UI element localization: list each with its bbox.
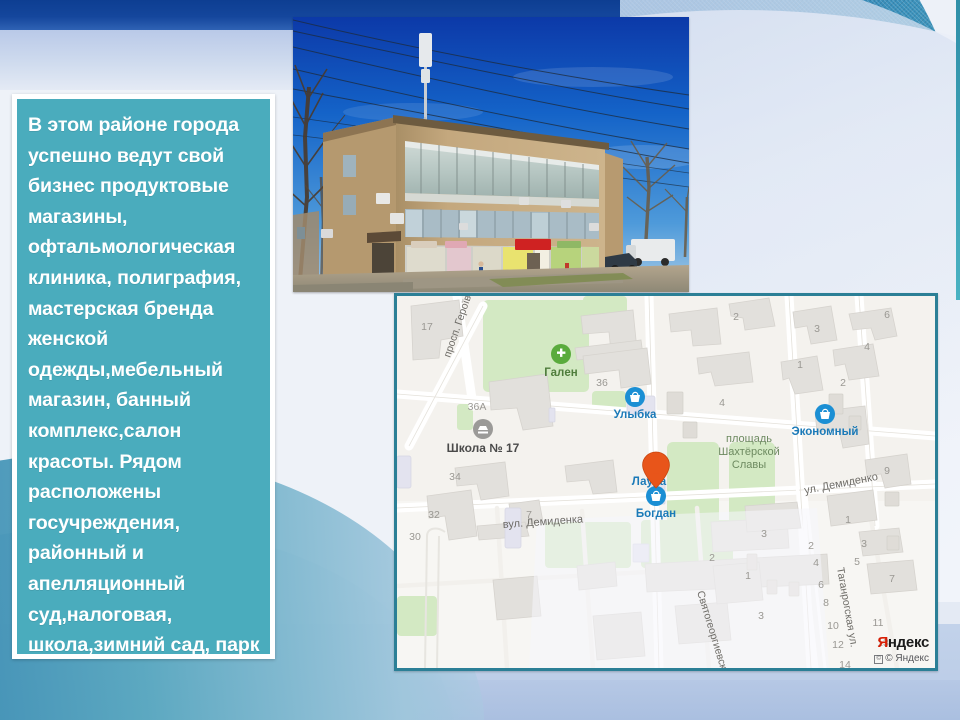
poi-label-shkola: Школа № 17 <box>447 441 520 455</box>
svg-text:1: 1 <box>845 514 851 526</box>
svg-text:5: 5 <box>854 556 860 568</box>
svg-text:4: 4 <box>813 557 819 569</box>
svg-text:9: 9 <box>884 465 890 477</box>
yandex-map[interactable]: 17 36 36А 34 32 30 7 4 2 1 3 4 6 2 9 1 3 <box>394 293 938 671</box>
svg-text:Шахтёрской: Шахтёрской <box>718 446 780 458</box>
svg-text:30: 30 <box>409 531 421 543</box>
svg-text:3: 3 <box>758 610 764 622</box>
svg-text:11: 11 <box>873 617 884 629</box>
svg-text:14: 14 <box>839 659 851 668</box>
svg-text:площадь: площадь <box>726 433 772 445</box>
svg-text:6: 6 <box>884 309 890 321</box>
building <box>321 115 623 289</box>
copyright-mark-icon: © <box>874 655 883 664</box>
svg-text:34: 34 <box>449 471 461 483</box>
building-photo-image <box>293 17 689 292</box>
svg-text:2: 2 <box>808 540 814 552</box>
poi-label-bogdan: Богдан <box>636 508 676 520</box>
yandex-copyright-text: © Яндекс <box>885 653 929 664</box>
svg-text:2: 2 <box>733 311 739 323</box>
svg-text:Славы: Славы <box>732 459 766 471</box>
svg-text:6: 6 <box>818 579 824 591</box>
svg-text:2: 2 <box>840 377 846 389</box>
caption-textbox: В этом районе города успешно ведут свой … <box>12 94 275 659</box>
yandex-logo-ya: Я <box>877 634 887 651</box>
svg-text:12: 12 <box>832 639 844 651</box>
poi-label-ekonomnyy: Экономный <box>792 426 859 438</box>
building-photo <box>293 17 689 292</box>
svg-text:7: 7 <box>889 573 895 585</box>
svg-text:3: 3 <box>814 323 820 335</box>
svg-text:36А: 36А <box>468 401 487 413</box>
svg-text:3: 3 <box>861 538 867 550</box>
yandex-copyright: ©© Яндекс <box>874 654 929 664</box>
caption-text: В этом районе города успешно ведут свой … <box>17 99 270 659</box>
poi-label-galen: Галeн <box>544 367 577 379</box>
background-teal-rule <box>956 0 960 300</box>
svg-text:4: 4 <box>719 397 725 409</box>
map-canvas[interactable]: 17 36 36А 34 32 30 7 4 2 1 3 4 6 2 9 1 3 <box>397 296 935 668</box>
svg-text:32: 32 <box>428 509 440 521</box>
poi-label-ulybka: Улыбка <box>614 409 657 421</box>
svg-text:10: 10 <box>827 620 839 632</box>
svg-text:1: 1 <box>797 359 803 371</box>
slide-canvas: В этом районе города успешно ведут свой … <box>0 0 960 720</box>
svg-text:2: 2 <box>709 552 715 564</box>
svg-text:17: 17 <box>421 321 433 333</box>
svg-text:8: 8 <box>823 597 829 609</box>
yandex-logo: Яндекс <box>877 635 929 650</box>
yandex-logo-ndex: ндекс <box>888 634 929 651</box>
svg-text:3: 3 <box>761 528 767 540</box>
svg-text:36: 36 <box>596 377 608 389</box>
svg-text:1: 1 <box>745 570 751 582</box>
svg-text:4: 4 <box>864 341 870 353</box>
